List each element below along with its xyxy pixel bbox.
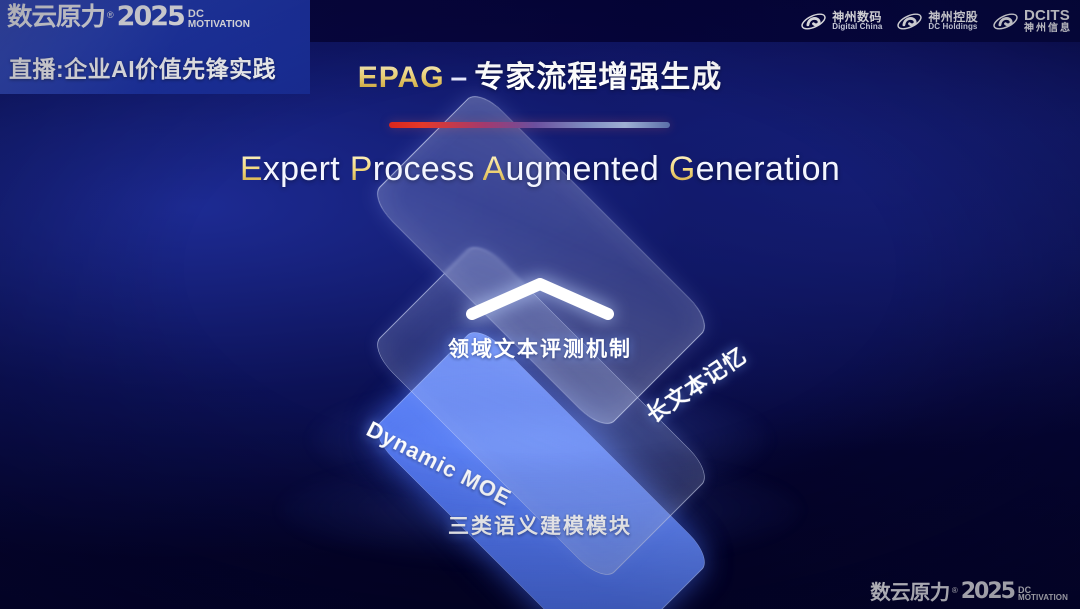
swirl-icon	[896, 8, 923, 35]
subtitle-word-expert: xpert	[263, 150, 340, 188]
watermark-logo-year: 2025	[961, 581, 1014, 603]
event-logo-dc: DC	[188, 9, 250, 19]
subtitle-cap-g: G	[669, 150, 696, 188]
partner-name-en: Digital China	[832, 23, 882, 31]
page-title-acronym: EPAG	[358, 61, 445, 94]
watermark-logo-cn: 数云原力	[870, 583, 950, 603]
subtitle-cap-a: A	[483, 150, 506, 188]
event-logo-motivation: MOTIVATION	[188, 20, 250, 30]
swirl-icon	[800, 8, 827, 35]
diagram-layer-top-label: 领域文本评测机制	[0, 333, 1080, 363]
partner-name-en: DCITS	[1024, 8, 1072, 23]
page-subtitle: Expert Process Augmented Generation	[0, 150, 1080, 189]
subtitle-word-augmented: ugmented	[506, 150, 660, 188]
page-title-dash: –	[451, 61, 469, 94]
event-logo-cn: 数云原力	[7, 5, 105, 30]
swirl-icon	[992, 8, 1019, 35]
page-title-chinese: 专家流程增强生成	[474, 61, 722, 94]
diagram-layer-bottom-label: 三类语义建模模块	[0, 510, 1080, 540]
event-logo: 数云原力 ® 2025 DC MOTIVATION	[8, 3, 250, 30]
subtitle-cap-p: P	[350, 150, 373, 188]
slide-canvas: 数云原力 ® 2025 DC MOTIVATION 直播:企业AI价值先锋实践 …	[0, 0, 1080, 609]
footer-watermark-logo: 数云原力 ® 2025 DC MOTIVATION	[871, 581, 1068, 603]
watermark-logo-dc-motivation: DC MOTIVATION	[1018, 586, 1068, 602]
watermark-logo-motivation: MOTIVATION	[1018, 594, 1068, 602]
subtitle-word-process: rocess	[373, 150, 475, 188]
event-logo-dc-motivation: DC MOTIVATION	[188, 9, 250, 29]
partner-logo-dc-holdings: 神州控股 DC Holdings	[896, 8, 978, 35]
registered-mark-icon: ®	[107, 11, 114, 20]
event-logo-year: 2025	[117, 3, 184, 30]
partner-logo-dcits: DCITS 神州信息	[992, 8, 1072, 35]
subtitle-cap-e: E	[240, 150, 263, 188]
partner-logo-digital-china: 神州数码 Digital China	[800, 8, 882, 35]
partner-name-cn: 神州信息	[1024, 24, 1072, 34]
registered-mark-icon: ®	[952, 587, 958, 595]
chevron-up-icon	[0, 276, 1080, 327]
live-session-title: 直播:企业AI价值先锋实践	[9, 50, 276, 84]
brand-block: 数云原力 ® 2025 DC MOTIVATION 直播:企业AI价值先锋实践	[0, 0, 310, 94]
divider	[389, 122, 670, 128]
partner-name-en: DC Holdings	[928, 23, 978, 31]
subtitle-word-generation: eneration	[696, 150, 840, 188]
partner-logo-group: 神州数码 Digital China 神州控股 DC Holdings	[800, 4, 1072, 38]
